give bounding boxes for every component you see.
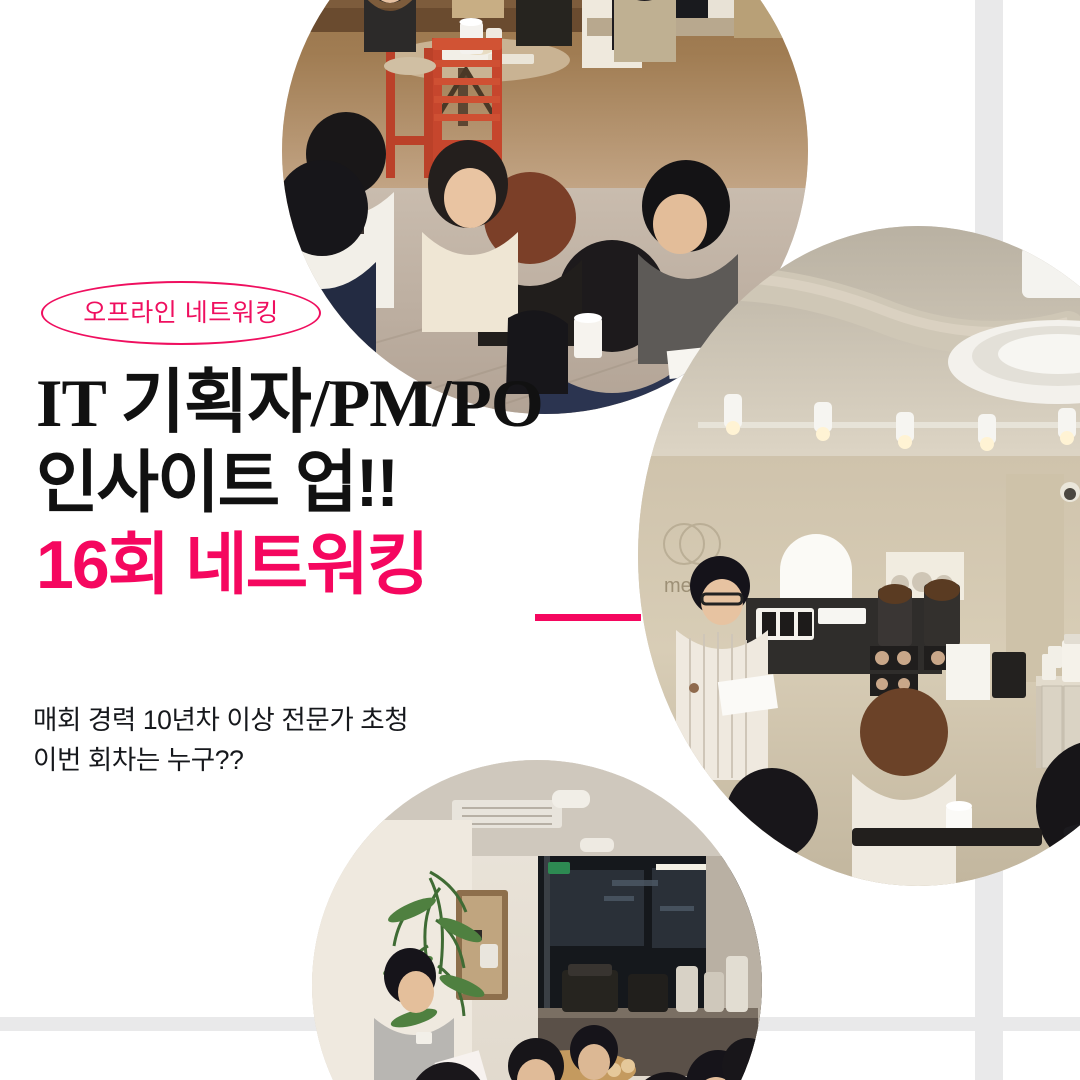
subtitle-line-2: 이번 회차는 누구?? [33, 740, 593, 780]
headline-line-1-latin-suffix: /PM/PO [311, 365, 543, 441]
subtitle-block: 매회 경력 10년차 이상 전문가 초청 이번 회차는 누구?? [33, 700, 593, 781]
headline-line-3: 16회 네트워킹 [36, 531, 676, 599]
headline-line-1-korean: 기획자 [121, 363, 311, 441]
badge-offline-networking: 오프라인 네트워킹 [41, 281, 321, 345]
accent-underline [535, 614, 641, 621]
photo-evening-session-talk [312, 760, 762, 1080]
headline-line-1: IT 기획자/PM/PO [36, 367, 676, 437]
headline-line-1-latin-prefix: IT [36, 365, 121, 441]
subtitle-line-1: 매회 경력 10년차 이상 전문가 초청 [33, 700, 593, 740]
poster-canvas: meta [0, 0, 1080, 1080]
headline-line-2: 인사이트 업!! [36, 449, 676, 517]
badge-label: 오프라인 네트워킹 [83, 301, 278, 326]
page-title: IT 기획자/PM/PO 인사이트 업!! 16회 네트워킹 [36, 367, 676, 599]
